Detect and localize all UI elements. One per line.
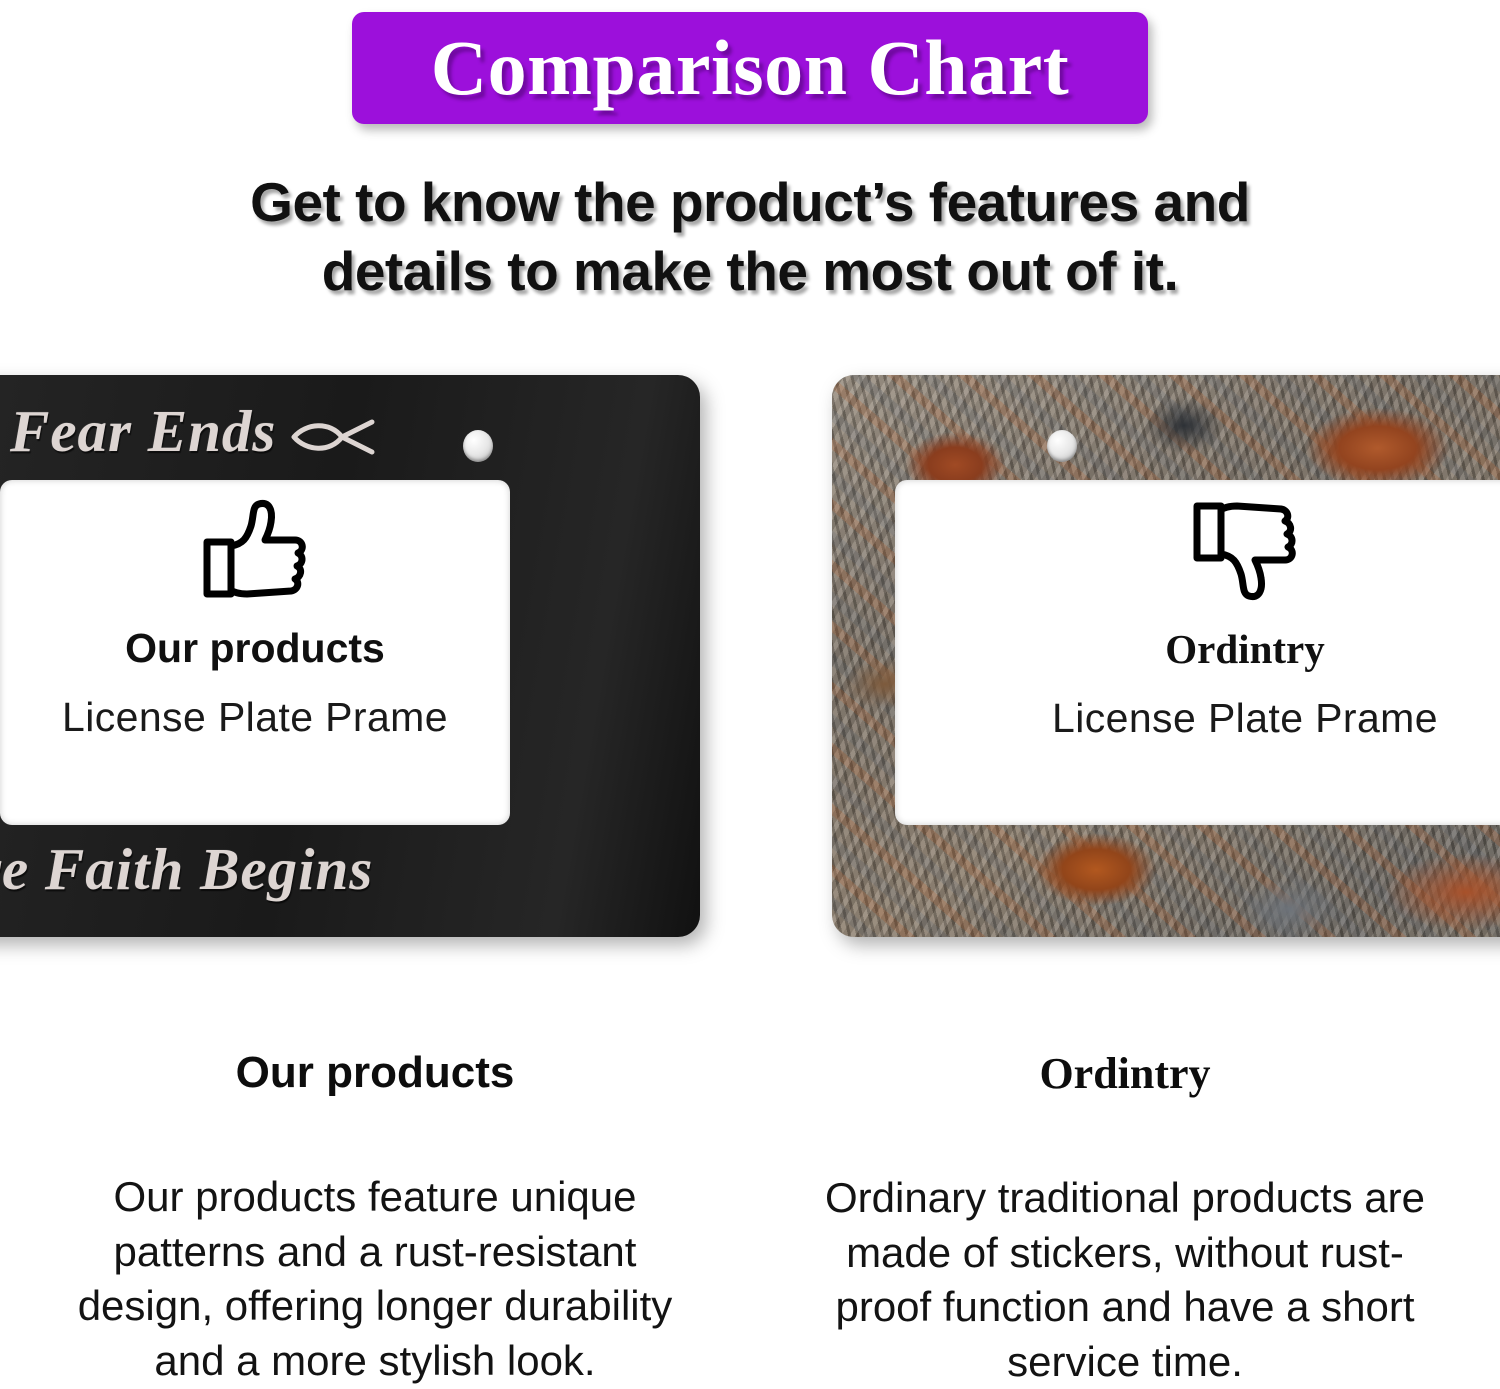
plate-window-left: Our products License Plate Prame <box>0 480 510 825</box>
plate-engraving-bottom: re Faith Begins <box>0 835 373 904</box>
mounting-hole <box>463 430 493 462</box>
plate-engraving-top: Fear Ends <box>10 397 376 472</box>
description-body-ordintry: Ordinary traditional products are made o… <box>802 1171 1448 1389</box>
product-comparison-frames: Fear Ends re Faith Begins Our products L… <box>0 375 1500 940</box>
ordinary-product-license-plate-frame: Ordintry License Plate Prame <box>832 375 1500 937</box>
plate-engraving-top-text: Fear Ends <box>10 398 276 464</box>
subtitle-line-2: details to make the most out of it. <box>0 237 1500 306</box>
comparison-description-columns: Our products Our products feature unique… <box>0 1020 1500 1364</box>
description-column-ordintry: Ordintry Ordinary traditional products a… <box>750 1020 1500 1364</box>
description-heading-ordintry: Ordintry <box>802 1048 1448 1099</box>
page-title: Comparison Chart <box>431 29 1070 107</box>
thumbs-down-icon <box>1189 498 1301 607</box>
mounting-hole <box>1047 430 1077 462</box>
comparison-chart-banner: Comparison Chart <box>352 12 1148 124</box>
ichthys-fish-icon <box>290 403 376 472</box>
verdict-label-our-products: Our products <box>125 625 385 672</box>
description-body-our-products: Our products feature unique patterns and… <box>52 1170 698 1388</box>
plate-window-right: Ordintry License Plate Prame <box>895 480 1500 825</box>
description-column-our-products: Our products Our products feature unique… <box>0 1020 750 1364</box>
verdict-label-ordintry: Ordintry <box>1165 625 1324 673</box>
our-product-license-plate-frame: Fear Ends re Faith Begins Our products L… <box>0 375 700 937</box>
product-type-right: License Plate Prame <box>1052 695 1438 742</box>
description-heading-our-products: Our products <box>52 1048 698 1098</box>
thumbs-up-icon <box>199 498 311 607</box>
subtitle: Get to know the product’s features and d… <box>0 168 1500 306</box>
product-type-left: License Plate Prame <box>62 694 448 741</box>
subtitle-line-1: Get to know the product’s features and <box>0 168 1500 237</box>
